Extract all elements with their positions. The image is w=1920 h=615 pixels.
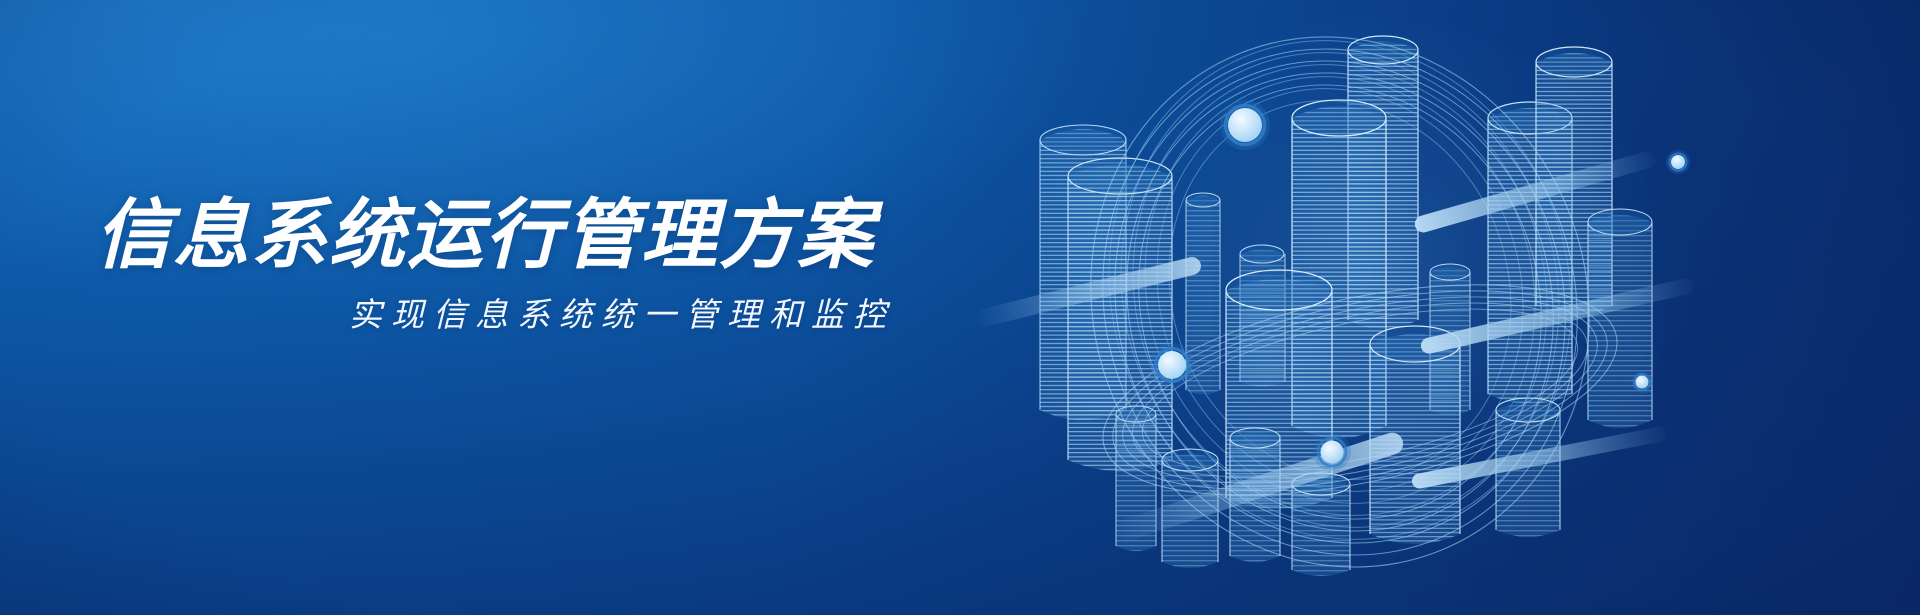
glow-dot-lower-left	[1150, 343, 1194, 387]
banner-subtitle: 实现信息系统统一管理和监控	[95, 295, 915, 335]
wireframe-city-illustration	[940, 0, 1700, 615]
glow-dot-mid-right	[1631, 371, 1653, 393]
glow-dot-bottom-mid	[1313, 433, 1351, 471]
glow-dot-far-right	[1666, 150, 1690, 174]
glow-dot-upper-left	[1220, 100, 1270, 150]
tower-j	[1588, 209, 1652, 428]
banner-text-block: 信息系统运行管理方案 实现信息系统统一管理和监控	[95, 196, 915, 334]
banner-root: 信息系统运行管理方案 实现信息系统统一管理和监控	[0, 0, 1920, 615]
banner-title: 信息系统运行管理方案	[95, 196, 915, 277]
